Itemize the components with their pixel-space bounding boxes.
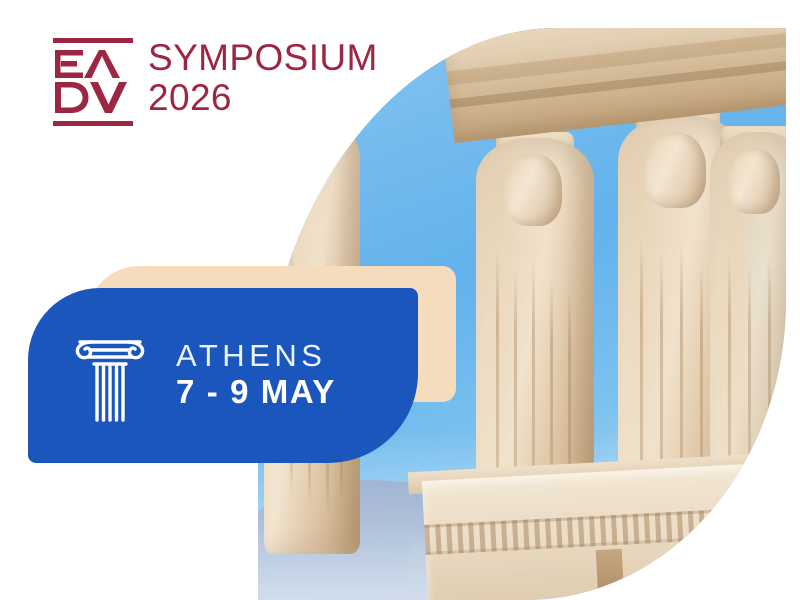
caryatid-head-c [644,132,706,208]
entablature-band-upper [447,28,786,86]
podium-base [422,459,786,600]
eadv-logo-mark [52,36,134,128]
dentil-moulding [424,503,786,555]
caryatid-head-b [504,154,562,226]
symposium-title-block: SYMPOSIUM 2026 [148,36,378,118]
badge-text-block: ATHENS 7 - 9 MAY [176,340,336,412]
ionic-column-icon [70,324,150,428]
badge-city-label: ATHENS [176,340,336,373]
badge-dates-label: 7 - 9 MAY [176,374,336,411]
symposium-year: 2026 [148,79,378,118]
caryatid-head-d [728,148,780,214]
symposium-title: SYMPOSIUM [148,40,378,76]
podium-stone-block [596,549,624,598]
eadv-logo-lockup: SYMPOSIUM 2026 [52,36,378,128]
eadv-symposium-banner: ATHENS 7 - 9 MAY [0,0,800,600]
athens-date-badge: ATHENS 7 - 9 MAY [28,288,418,463]
